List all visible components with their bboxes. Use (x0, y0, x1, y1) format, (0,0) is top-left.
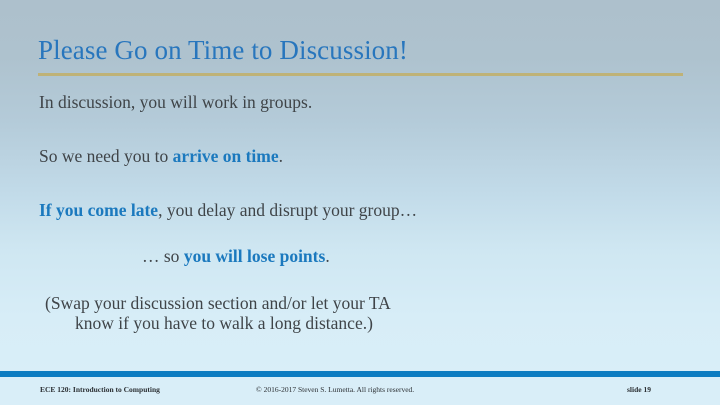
p4-prefix-text: … so (142, 246, 184, 266)
p5-line-2: know if you have to walk a long distance… (45, 313, 605, 333)
footer-divider-bar (0, 371, 720, 377)
body-paragraph-4: … so you will lose points. (142, 246, 682, 267)
p3-rest-text: , you delay and disrupt your group… (158, 200, 417, 220)
body-paragraph-1: In discussion, you will work in groups. (39, 92, 659, 113)
body-paragraph-3: If you come late, you delay and disrupt … (39, 201, 659, 220)
slide-title: Please Go on Time to Discussion! (38, 33, 688, 67)
p2-highlight-arrive-on-time: arrive on time (173, 146, 279, 166)
footer-copyright-label: © 2016-2017 Steven S. Lumetta. All right… (256, 385, 414, 395)
p4-suffix-text: . (325, 246, 329, 266)
p4-highlight-lose-points: you will lose points (184, 246, 326, 266)
p3-highlight-if-you-come-late: If you come late (39, 200, 158, 220)
title-divider-rule (38, 73, 683, 76)
footer-course-label: ECE 120: Introduction to Computing (40, 385, 160, 395)
body-paragraph-5: (Swap your discussion section and/or let… (45, 293, 605, 333)
p2-prefix-text: So we need you to (39, 146, 173, 166)
p5-line-1: (Swap your discussion section and/or let… (45, 293, 391, 313)
p2-suffix-text: . (279, 146, 283, 166)
slide-canvas: Please Go on Time to Discussion! In disc… (0, 0, 720, 405)
body-paragraph-2: So we need you to arrive on time. (39, 146, 659, 167)
footer-slide-number: slide 19 (627, 385, 651, 395)
